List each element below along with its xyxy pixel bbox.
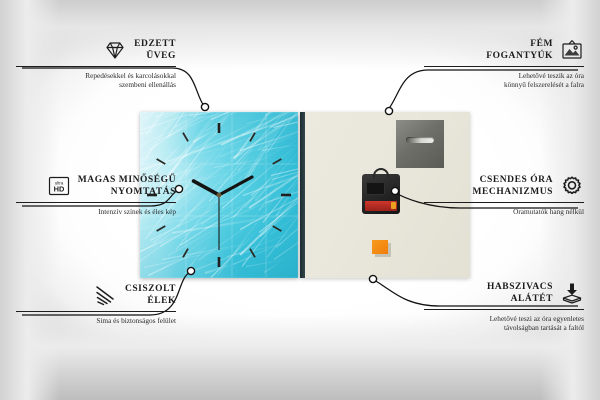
metal-hanger-plate: [396, 120, 444, 168]
clock-center-cap: [217, 193, 222, 198]
hour-marker: [183, 133, 188, 142]
hour-marker: [273, 159, 282, 164]
callout-divider: [16, 66, 176, 67]
product-group: [140, 112, 470, 278]
callout-description: Lehetővé teszi az óra egyenletestávolság…: [424, 314, 584, 333]
callout-title: MAGAS MINŐSÉGŰNYOMTATÁS: [78, 174, 176, 198]
gear-icon: [560, 174, 584, 198]
minute-hand: [219, 177, 252, 195]
callout-divider: [16, 311, 176, 312]
callout-polished-edges: CSISZOLTÉLEK Sima és biztonságos felület: [16, 283, 176, 325]
clock-mechanism: [362, 174, 400, 214]
hanger-slot: [406, 137, 434, 143]
hour-marker: [273, 226, 282, 231]
foam-spacer-pad: [372, 240, 388, 254]
hour-marker: [250, 133, 255, 142]
callout-metal-handles: FÉMFOGANTYÚK Lehetővé teszik az órakönny…: [424, 38, 584, 90]
callout-description: Sima és biztonságos felület: [16, 316, 176, 326]
connector-dot-tempered-glass: [201, 103, 208, 110]
callout-description: Intenzív színek és éles kép: [16, 207, 176, 217]
ultra-hd-badge-icon: ultra HD: [47, 174, 71, 198]
callout-description: Óramutatók hang nélkül: [424, 207, 584, 217]
callout-foam-spacer: HABSZIVACSALÁTÉT Lehetővé teszi az óra e…: [424, 281, 584, 333]
callout-divider: [424, 309, 584, 310]
foam-pad-icon: [560, 281, 584, 305]
callout-high-quality-print: ultra HD MAGAS MINŐSÉGŰNYOMTATÁS Intenzí…: [16, 174, 176, 216]
infographic-stage: EDZETTÜVEG Repedésekkel és karcolásokkal…: [0, 0, 600, 400]
hour-hand: [194, 181, 220, 195]
polished-edge-icon: [94, 283, 118, 307]
callout-tempered-glass: EDZETTÜVEG Repedésekkel és karcolásokkal…: [16, 38, 176, 90]
diamond-icon: [103, 38, 127, 62]
callout-description: Repedésekkel és karcolásokkalszembeni el…: [16, 71, 176, 90]
callout-description: Lehetővé teszik az órakönnyű felszerelés…: [424, 71, 584, 90]
callout-divider: [424, 202, 584, 203]
callout-divider: [16, 202, 176, 203]
callout-divider: [424, 66, 584, 67]
mechanism-body: [366, 182, 385, 195]
callout-title: CSISZOLTÉLEK: [125, 283, 176, 307]
callout-title: EDZETTÜVEG: [134, 38, 176, 62]
hour-marker: [183, 249, 188, 258]
mechanism-hook: [373, 168, 389, 178]
hour-marker: [250, 249, 255, 258]
callout-silent-movement: CSENDES ÓRAMECHANIZMUS Óramutatók hang n…: [424, 174, 584, 216]
callout-title: FÉMFOGANTYÚK: [486, 38, 553, 62]
glass-edge: [300, 112, 305, 278]
svg-text:HD: HD: [53, 185, 64, 194]
hour-marker: [157, 226, 166, 231]
picture-hanger-icon: [560, 38, 584, 62]
callout-title: HABSZIVACSALÁTÉT: [487, 281, 553, 305]
callout-title: CSENDES ÓRAMECHANIZMUS: [473, 174, 553, 198]
hour-marker: [157, 159, 166, 164]
battery-terminal: [391, 202, 396, 209]
battery: [365, 201, 397, 211]
